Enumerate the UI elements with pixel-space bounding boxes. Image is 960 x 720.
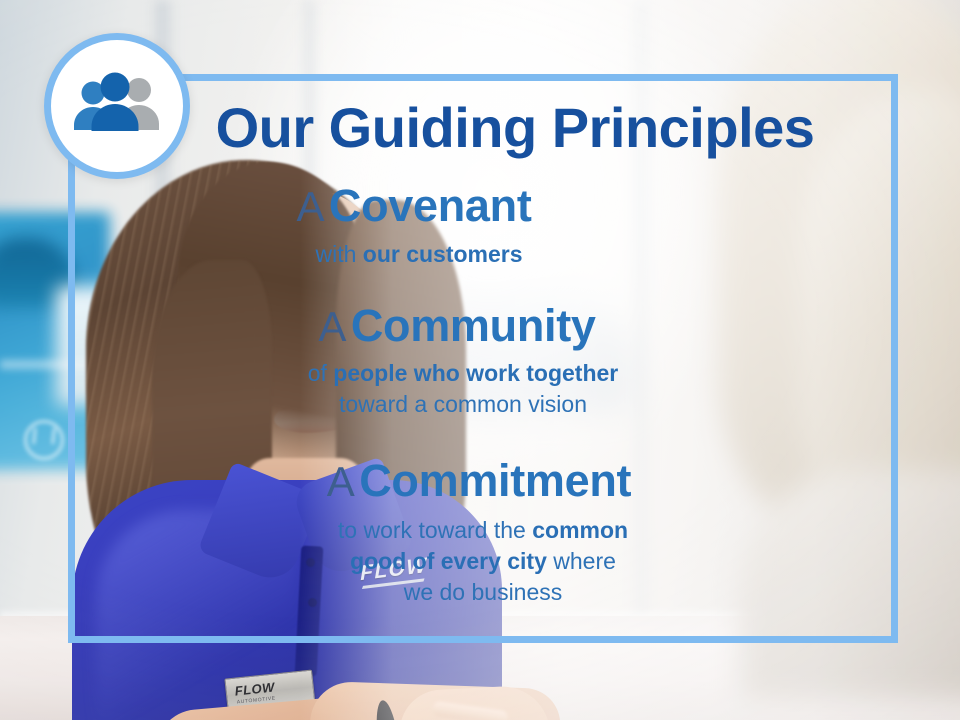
description-segment: with	[315, 241, 362, 267]
principle-community: A Community of people who work together …	[68, 302, 898, 420]
principle-title: A Covenant	[68, 182, 898, 230]
people-group-badge	[44, 33, 190, 179]
description-line: toward a common vision	[68, 389, 858, 420]
description-line: we do business	[68, 577, 898, 608]
description-segment: where	[547, 548, 616, 574]
principle-article: A	[296, 183, 324, 230]
principle-description: of people who work together toward a com…	[68, 358, 898, 421]
description-line: of people who work together	[68, 358, 858, 389]
description-segment-bold: common	[532, 517, 628, 543]
principle-commitment: A Commitment to work toward the common g…	[68, 457, 898, 608]
description-segment-bold: good of every city	[350, 548, 547, 574]
principle-article: A	[327, 458, 355, 505]
content-area: Our Guiding Principles A Covenant with o…	[68, 74, 898, 643]
description-segment: to work toward the	[338, 517, 532, 543]
description-segment-bold: people who work together	[333, 360, 618, 386]
description-line: to work toward the common	[68, 515, 898, 546]
principle-article: A	[318, 303, 346, 350]
people-group-icon	[69, 71, 165, 141]
principle-title: A Community	[68, 302, 898, 350]
principle-title: A Commitment	[68, 457, 898, 505]
description-line: good of every city where	[68, 546, 898, 577]
principle-covenant: A Covenant with our customers	[68, 182, 898, 270]
principle-keyword: Community	[351, 300, 596, 351]
description-segment: of	[308, 360, 334, 386]
principle-description: with our customers	[68, 239, 898, 270]
description-line: with our customers	[68, 239, 770, 270]
principle-keyword: Commitment	[359, 455, 631, 506]
principle-description: to work toward the common good of every …	[68, 515, 898, 609]
description-segment-bold: our customers	[363, 241, 523, 267]
principle-keyword: Covenant	[329, 180, 532, 231]
guiding-principles-graphic: FLOW FLOW AUTOMOTIVE Our Guiding Princip…	[0, 0, 960, 720]
